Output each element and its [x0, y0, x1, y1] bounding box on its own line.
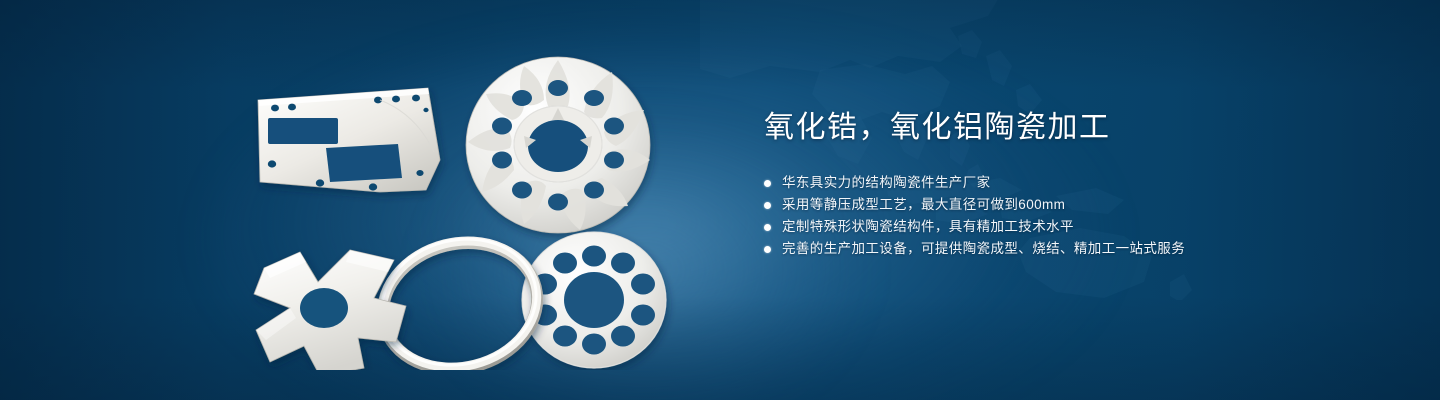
feature-text: 采用等静压成型工艺，最大直径可做到600mm: [782, 194, 1065, 216]
list-item: 华东具实力的结构陶瓷件生产厂家: [764, 172, 1364, 194]
feature-list: 华东具实力的结构陶瓷件生产厂家 采用等静压成型工艺，最大直径可做到600mm 定…: [764, 172, 1364, 260]
ceramic-cross-plate: [254, 250, 406, 370]
feature-text: 华东具实力的结构陶瓷件生产厂家: [782, 172, 991, 194]
feature-text: 完善的生产加工设备，可提供陶瓷成型、烧结、精加工一站式服务: [782, 238, 1185, 260]
page-title: 氧化锆，氧化铝陶瓷加工: [764, 108, 1364, 148]
feature-text: 定制特殊形状陶瓷结构件，具有精加工技术水平: [782, 216, 1074, 238]
banner-text-column: 氧化锆，氧化铝陶瓷加工 华东具实力的结构陶瓷件生产厂家 采用等静压成型工艺，最大…: [764, 108, 1364, 260]
list-item: 采用等静压成型工艺，最大直径可做到600mm: [764, 194, 1364, 216]
list-item: 完善的生产加工设备，可提供陶瓷成型、烧结、精加工一站式服务: [764, 238, 1364, 260]
bullet-dot-icon: [764, 180, 771, 187]
ceramic-perforated-disc: [522, 232, 666, 368]
ceramic-vaned-impeller: [466, 57, 650, 233]
list-item: 定制特殊形状陶瓷结构件，具有精加工技术水平: [764, 216, 1364, 238]
promo-banner: 氧化锆，氧化铝陶瓷加工 华东具实力的结构陶瓷件生产厂家 采用等静压成型工艺，最大…: [0, 0, 1440, 400]
bullet-dot-icon: [764, 246, 771, 253]
ceramic-rectangular-plate: [258, 88, 440, 192]
product-photo-group: [230, 40, 700, 370]
bullet-dot-icon: [764, 202, 771, 209]
bullet-dot-icon: [764, 224, 771, 231]
